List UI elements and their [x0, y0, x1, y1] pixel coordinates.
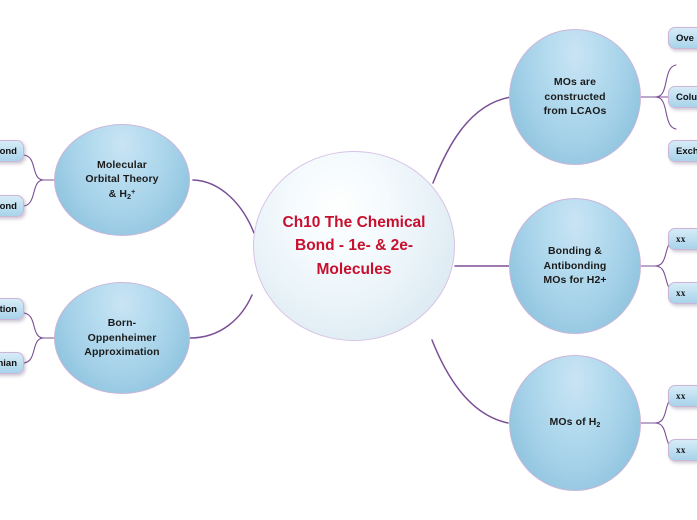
connector-center-to-born [190, 295, 252, 338]
central-topic-line-1: Ch10 The Chemical [283, 211, 426, 234]
leaf-label: nian [0, 358, 17, 369]
branch-node-bonding-antibonding-mos[interactable]: Bonding & Antibonding MOs for H2+ [509, 198, 641, 334]
leaf-label: xx [676, 234, 686, 244]
branch-line-2: Oppenheimer [84, 331, 159, 346]
branch-line-3: Approximation [84, 345, 159, 360]
central-topic-line-3: Molecules [283, 258, 426, 281]
connector-center-to-lcao [433, 97, 511, 183]
connector-center-to-mot [193, 180, 254, 233]
leaf-node-hamiltonian[interactable]: nian [0, 352, 24, 374]
branch-line-3: from LCAOs [544, 104, 607, 119]
branch-node-born-oppenheimer-approximation[interactable]: Born- Oppenheimer Approximation [54, 282, 190, 394]
leaf-label: Bond [0, 146, 17, 157]
branch-line-2: Orbital Theory [85, 172, 158, 187]
leaf-node-exchange[interactable]: Exch [668, 140, 697, 162]
branch-label-lcao: MOs are constructed from LCAOs [544, 75, 607, 120]
leaf-node-xx-2[interactable]: xx [668, 282, 697, 304]
central-topic-node[interactable]: Ch10 The Chemical Bond - 1e- & 2e- Molec… [253, 151, 455, 341]
branch-label-molecular-orbital-theory: Molecular Orbital Theory & H2+ [85, 158, 158, 203]
leaf-node-xx-4[interactable]: xx [668, 439, 697, 461]
leaf-node-xx-1[interactable]: xx [668, 228, 697, 250]
leaf-label: xx [676, 391, 686, 401]
mind-map-canvas: Ch10 The Chemical Bond - 1e- & 2e- Molec… [0, 0, 697, 520]
central-topic-label: Ch10 The Chemical Bond - 1e- & 2e- Molec… [283, 211, 426, 281]
leaf-node-xx-3[interactable]: xx [668, 385, 697, 407]
branch-line-2: constructed [544, 90, 607, 105]
leaf-label: Ove [676, 33, 694, 44]
leaf-node-approximation[interactable]: ition [0, 298, 24, 320]
branch-line-3: MOs for H2+ [543, 273, 606, 288]
branch-line-1: MOs are [544, 75, 607, 90]
leaf-label: Bond [0, 201, 17, 212]
branch-line-1: MOs of H2 [550, 415, 601, 430]
branch-node-mos-constructed-from-lcaos[interactable]: MOs are constructed from LCAOs [509, 29, 641, 165]
leaf-label: ition [0, 304, 17, 315]
branch-node-molecular-orbital-theory[interactable]: Molecular Orbital Theory & H2+ [54, 124, 190, 236]
leaf-label: Exch [676, 146, 697, 157]
leaf-label: xx [676, 445, 686, 455]
branch-line-2: Antibonding [543, 259, 606, 274]
leaf-label: xx [676, 288, 686, 298]
branch-line-3: & H2+ [85, 187, 158, 202]
connector-born-leaves [24, 313, 56, 363]
leaf-node-bond-1[interactable]: Bond [0, 140, 24, 162]
leaf-node-coulomb[interactable]: Colu [668, 86, 697, 108]
central-topic-line-2: Bond - 1e- & 2e- [283, 234, 426, 257]
leaf-node-bond-2[interactable]: Bond [0, 195, 24, 217]
branch-node-mos-of-h2[interactable]: MOs of H2 [509, 355, 641, 491]
branch-line-1: Born- [84, 316, 159, 331]
leaf-label: Colu [676, 92, 697, 103]
connector-center-to-mosh2 [432, 340, 508, 423]
connector-mot-leaves [24, 155, 56, 206]
branch-line-1: Molecular [85, 158, 158, 173]
branch-label-mos-of-h2: MOs of H2 [550, 415, 601, 430]
leaf-node-overlap[interactable]: Ove [668, 27, 697, 49]
branch-line-1: Bonding & [543, 244, 606, 259]
branch-label-bonding: Bonding & Antibonding MOs for H2+ [543, 244, 606, 289]
branch-label-born-oppenheimer: Born- Oppenheimer Approximation [84, 316, 159, 361]
